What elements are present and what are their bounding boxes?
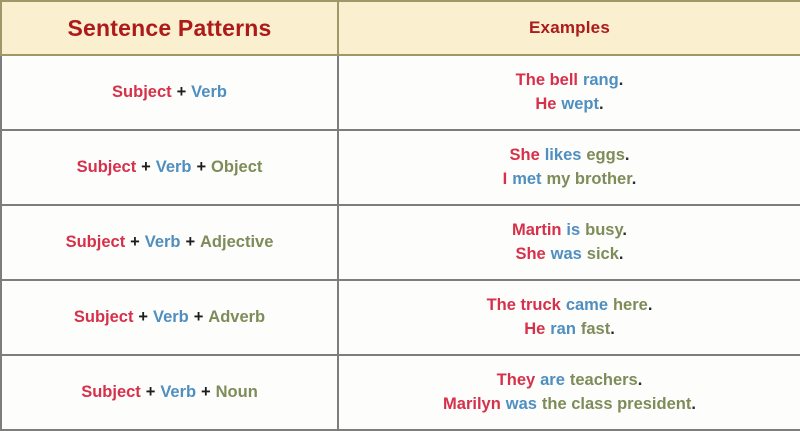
pattern-part-subject: Subject [77, 158, 137, 176]
example-complement: busy [585, 221, 622, 239]
example-period: . [648, 296, 653, 314]
example-period: . [619, 71, 624, 89]
example-complement: my brother [546, 170, 631, 188]
example-period: . [599, 95, 604, 113]
example-verb: wept [561, 95, 599, 113]
examples-cell: The bellrang.Hewept. [338, 55, 800, 130]
example-verb: was [551, 245, 582, 263]
plus-sign: + [130, 233, 140, 251]
example-sentence: Imetmy brother. [347, 168, 792, 191]
pattern-part-complement: Object [211, 158, 262, 176]
pattern-cell: Subject+Verb+Noun [1, 355, 338, 430]
pattern-cell: Subject+Verb+Adjective [1, 205, 338, 280]
example-subject: She [510, 146, 540, 164]
example-verb: likes [545, 146, 582, 164]
pattern-part-verb: Verb [191, 83, 227, 101]
example-subject: He [535, 95, 556, 113]
examples-cell: Martinisbusy.Shewassick. [338, 205, 800, 280]
example-verb: came [566, 296, 608, 314]
example-period: . [622, 221, 627, 239]
example-complement: fast [581, 320, 610, 338]
example-sentence: Shelikeseggs. [347, 144, 792, 167]
table-row: Subject+VerbThe bellrang.Hewept. [1, 55, 800, 130]
example-period: . [632, 170, 637, 188]
column-header-examples: Examples [338, 1, 800, 55]
table-row: Subject+Verb+ObjectShelikeseggs.Imetmy b… [1, 130, 800, 205]
table-row: Subject+Verb+AdjectiveMartinisbusy.Shewa… [1, 205, 800, 280]
example-verb: are [540, 371, 565, 389]
example-period: . [625, 146, 630, 164]
pattern-part-verb: Verb [160, 383, 196, 401]
pattern-formula: Subject+Verb+Adverb [10, 308, 329, 328]
example-sentence: Theyareteachers. [347, 369, 792, 392]
table-header-row: Sentence Patterns Examples [1, 1, 800, 55]
table-header: Sentence Patterns Examples [1, 1, 800, 55]
example-subject: Marilyn [443, 395, 501, 413]
example-subject: The bell [516, 71, 578, 89]
table-row: Subject+Verb+NounTheyareteachers.Marilyn… [1, 355, 800, 430]
sentence-patterns-table-container: Sentence Patterns Examples Subject+VerbT… [0, 0, 800, 408]
plus-sign: + [201, 383, 211, 401]
example-sentence: The bellrang. [347, 69, 792, 92]
pattern-part-subject: Subject [74, 308, 134, 326]
examples-cell: The truckcamehere.Heranfast. [338, 280, 800, 355]
example-complement: here [613, 296, 648, 314]
example-complement: sick [587, 245, 619, 263]
pattern-part-verb: Verb [153, 308, 189, 326]
pattern-part-subject: Subject [112, 83, 172, 101]
example-verb: was [506, 395, 537, 413]
column-header-examples-label: Examples [529, 18, 610, 37]
example-verb: met [512, 170, 541, 188]
table-row: Subject+Verb+AdverbThe truckcamehere.Her… [1, 280, 800, 355]
example-verb: ran [550, 320, 576, 338]
plus-sign: + [177, 83, 187, 101]
column-header-sentence-patterns-label: Sentence Patterns [67, 15, 271, 41]
pattern-formula: Subject+Verb+Object [10, 158, 329, 178]
pattern-part-complement: Adjective [200, 233, 273, 251]
pattern-cell: Subject+Verb [1, 55, 338, 130]
example-verb: is [566, 221, 580, 239]
example-complement: the class president [542, 395, 691, 413]
example-sentence: Martinisbusy. [347, 219, 792, 242]
example-subject: The truck [487, 296, 561, 314]
example-period: . [610, 320, 615, 338]
example-period: . [619, 245, 624, 263]
plus-sign: + [196, 158, 206, 176]
pattern-cell: Subject+Verb+Object [1, 130, 338, 205]
example-sentence: Shewassick. [347, 243, 792, 266]
pattern-part-subject: Subject [81, 383, 141, 401]
example-subject: She [515, 245, 545, 263]
pattern-part-complement: Noun [216, 383, 258, 401]
pattern-part-complement: Adverb [208, 308, 265, 326]
plus-sign: + [185, 233, 195, 251]
example-subject: They [497, 371, 536, 389]
plus-sign: + [138, 308, 148, 326]
example-sentence: The truckcamehere. [347, 294, 792, 317]
example-sentence: Heranfast. [347, 318, 792, 341]
example-subject: Martin [512, 221, 562, 239]
example-period: . [691, 395, 696, 413]
table-body: Subject+VerbThe bellrang.Hewept.Subject+… [1, 55, 800, 430]
plus-sign: + [194, 308, 204, 326]
example-complement: eggs [586, 146, 625, 164]
plus-sign: + [146, 383, 156, 401]
example-verb: rang [583, 71, 619, 89]
examples-cell: Shelikeseggs.Imetmy brother. [338, 130, 800, 205]
pattern-formula: Subject+Verb+Noun [10, 383, 329, 403]
pattern-part-verb: Verb [145, 233, 181, 251]
example-period: . [638, 371, 643, 389]
pattern-formula: Subject+Verb+Adjective [10, 233, 329, 253]
pattern-cell: Subject+Verb+Adverb [1, 280, 338, 355]
example-subject: I [503, 170, 508, 188]
plus-sign: + [141, 158, 151, 176]
example-subject: He [524, 320, 545, 338]
example-sentence: Hewept. [347, 93, 792, 116]
column-header-sentence-patterns: Sentence Patterns [1, 1, 338, 55]
pattern-formula: Subject+Verb [10, 83, 329, 103]
examples-cell: Theyareteachers.Marilynwasthe class pres… [338, 355, 800, 430]
example-sentence: Marilynwasthe class president. [347, 393, 792, 416]
sentence-patterns-table: Sentence Patterns Examples Subject+VerbT… [0, 0, 800, 431]
pattern-part-subject: Subject [66, 233, 126, 251]
example-complement: teachers [570, 371, 638, 389]
pattern-part-verb: Verb [156, 158, 192, 176]
